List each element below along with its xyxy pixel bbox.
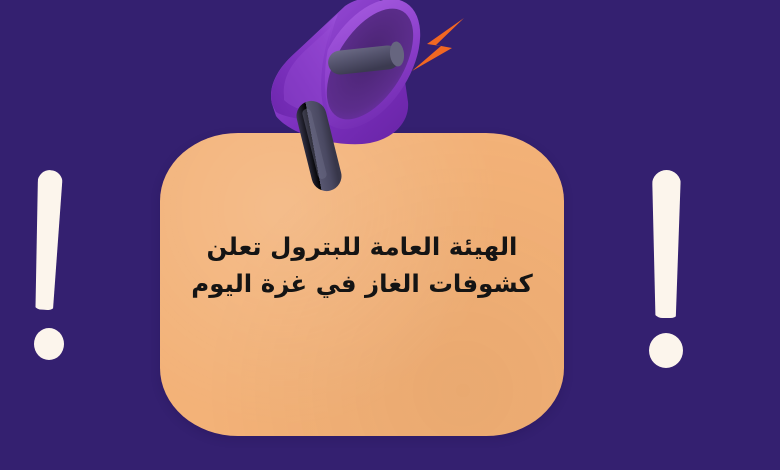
- headline-line-1: الهيئة العامة للبترول تعلن: [184, 228, 540, 265]
- announcement-poster: الهيئة العامة للبترول تعلن كشوفات الغاز …: [0, 0, 780, 470]
- lightning-bolt-shape: [412, 18, 464, 71]
- exclamation-dot: [34, 328, 64, 360]
- exclamation-dot: [649, 333, 683, 368]
- lightning-bolt-icon: [408, 14, 470, 76]
- headline-text: الهيئة العامة للبترول تعلن كشوفات الغاز …: [160, 228, 564, 302]
- exclamation-stroke: [652, 170, 681, 318]
- exclamation-mark-right-icon: [640, 170, 715, 375]
- exclamation-stroke: [32, 170, 63, 311]
- exclamation-mark-left-icon: [22, 170, 92, 375]
- headline-line-2: كشوفات الغاز في غزة اليوم: [184, 265, 540, 302]
